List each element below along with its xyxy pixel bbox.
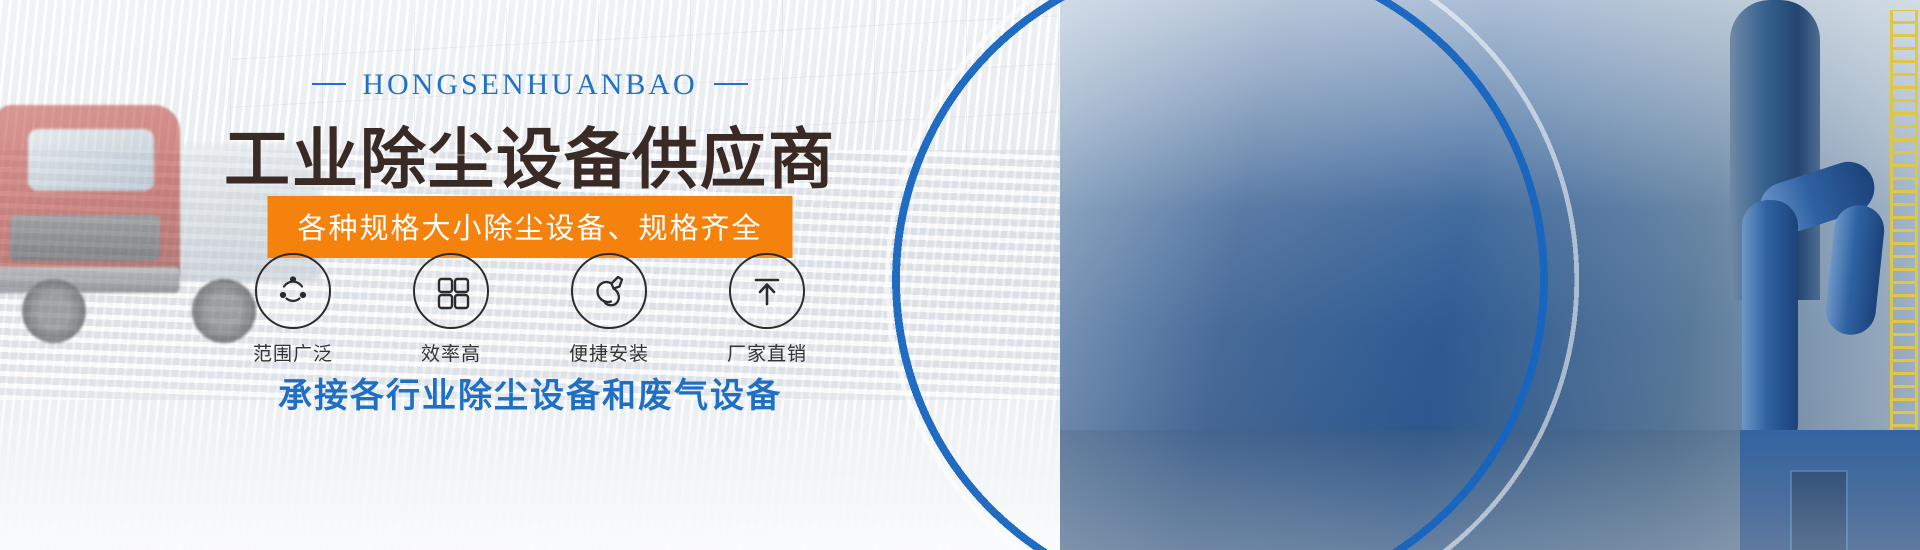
feature-list: 范围广泛 效率高 [0,253,1060,366]
duct-riser [1823,203,1886,338]
feature-label: 便捷安装 [554,339,664,366]
feature-icon-circle [729,253,805,329]
arrow-up-bar-icon [747,271,787,311]
grid-squares-icon [431,271,471,311]
dash-right-icon [714,83,748,85]
feature-item-efficiency[interactable]: 效率高 [396,253,506,366]
share-nodes-icon [273,271,313,311]
brand-eyebrow-text: HONGSENHUANBAO [362,68,697,101]
wrench-icon [588,270,630,312]
duct-vertical [1742,200,1798,450]
feature-icon-circle [413,253,489,329]
page-title: 工业除尘设备供应商 [0,106,1060,202]
banner-tagline: 承接各行业除尘设备和废气设备 [0,368,1060,417]
highlight-banner: 各种规格大小除尘设备、规格齐全 [267,196,792,258]
feature-label: 厂家直销 [712,339,822,366]
brand-eyebrow: HONGSENHUANBAO [0,68,1060,102]
hero-banner: HONGSENHUANBAO 工业除尘设备供应商 各种规格大小除尘设备、规格齐全… [0,0,1920,550]
feature-label: 范围广泛 [238,339,348,366]
feature-icon-circle [571,253,647,329]
feature-item-direct-sales[interactable]: 厂家直销 [712,253,822,366]
feature-label: 效率高 [396,339,506,366]
access-ladder [1890,10,1918,440]
banner-content: HONGSENHUANBAO 工业除尘设备供应商 各种规格大小除尘设备、规格齐全… [0,0,1060,550]
dash-left-icon [312,83,346,85]
feature-item-range[interactable]: 范围广泛 [238,253,348,366]
feature-icon-circle [255,253,331,329]
feature-item-installation[interactable]: 便捷安装 [554,253,664,366]
